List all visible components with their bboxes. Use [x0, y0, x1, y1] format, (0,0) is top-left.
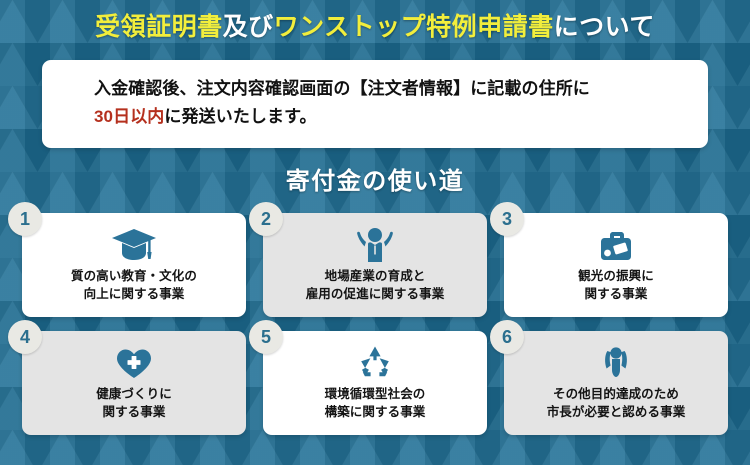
card-caption-line2-2: 雇用の促進に関する事業 — [306, 285, 445, 303]
furusato-donation-poster: 受領証明書及びワンストップ特例申請書について 入金確認後、注文内容確認画面の【注… — [0, 0, 750, 465]
recycle-icon — [352, 343, 398, 383]
card-caption-line2-3: 関する事業 — [584, 285, 647, 303]
graduation-cap-icon — [111, 225, 157, 265]
shipping-notice-box: 入金確認後、注文内容確認画面の【注文者情報】に記載の住所に 30日以内に発送いた… — [42, 60, 708, 148]
title-highlight-1: 受領証明書 — [95, 13, 223, 41]
usage-card-4[interactable]: 4 健康づくりに 関する事業 — [22, 331, 246, 435]
usage-card-5[interactable]: 5 環境循環型社会の 構築に関する事業 — [263, 331, 487, 435]
usage-card-3[interactable]: 3 観光の振興に 関する事業 — [504, 213, 728, 317]
notice-line-2-rest: に発送いたします。 — [164, 107, 316, 126]
notice-line-1: 入金確認後、注文内容確認画面の【注文者情報】に記載の住所に — [94, 75, 708, 103]
card-caption-line1-4: 健康づくりに — [96, 385, 172, 403]
notice-line-2: 30日以内に発送いたします。 — [94, 103, 708, 131]
usage-card-2[interactable]: 2 地場産業の育成と 雇用の促進に関する事業 — [263, 213, 487, 317]
usage-card-6[interactable]: 6 その他目的達成のため 市長が必要と認める事業 — [504, 331, 728, 435]
card-caption-line2-6: 市長が必要と認める事業 — [547, 403, 686, 421]
heart-plus-icon — [111, 343, 157, 383]
card-caption-line1-3: 観光の振興に — [578, 267, 654, 285]
card-badge-number-1: 1 — [8, 202, 42, 236]
card-caption-line2-4: 関する事業 — [102, 403, 165, 421]
card-badge-number-6: 6 — [490, 320, 524, 354]
poster-title: 受領証明書及びワンストップ特例申請書について — [0, 12, 750, 42]
card-badge-number-4: 4 — [8, 320, 42, 354]
section-heading-usage: 寄付金の使い道 — [0, 161, 750, 196]
card-caption-line2-5: 構築に関する事業 — [325, 403, 426, 421]
usage-cards-grid: 1 質の高い教育・文化の 向上に関する事業 2 — [22, 213, 728, 435]
person-raising-arms-icon — [352, 225, 398, 265]
notice-deadline-highlight: 30日以内 — [94, 107, 164, 126]
title-highlight-2: ワンストップ特例申請書 — [274, 13, 554, 41]
card-badge-number-2: 2 — [249, 202, 283, 236]
card-caption-line1-2: 地場産業の育成と — [325, 267, 426, 285]
title-plain-1: 及び — [223, 13, 274, 41]
card-caption-line2-1: 向上に関する事業 — [84, 285, 185, 303]
title-plain-2: について — [554, 13, 655, 41]
card-badge-number-5: 5 — [249, 320, 283, 354]
card-badge-number-3: 3 — [490, 202, 524, 236]
card-caption-line1-5: 環境循環型社会の — [325, 385, 426, 403]
person-open-arms-icon — [593, 343, 639, 383]
usage-card-1[interactable]: 1 質の高い教育・文化の 向上に関する事業 — [22, 213, 246, 317]
card-caption-line1-1: 質の高い教育・文化の — [71, 267, 197, 285]
suitcase-icon — [593, 225, 639, 265]
card-caption-line1-6: その他目的達成のため — [553, 385, 679, 403]
